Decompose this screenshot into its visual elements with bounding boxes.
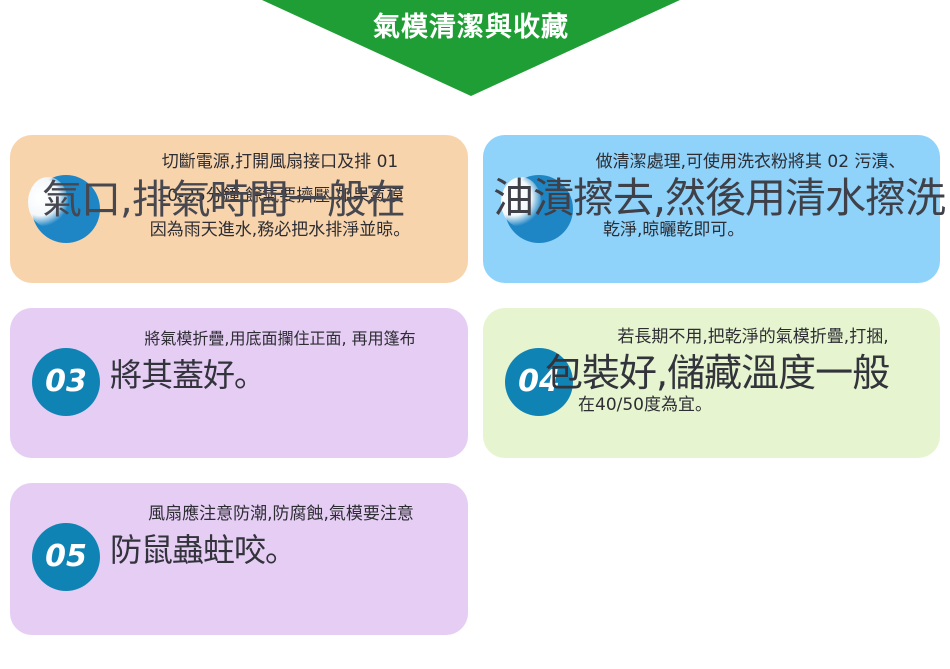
step-badge-05: 05 xyxy=(32,523,100,591)
step-body-line: 在40/50度為宜。 xyxy=(578,388,928,422)
step-body-line: 若長期不用,把乾淨的氣模折疊,打捆, xyxy=(578,320,928,354)
step-body-05: 風扇應注意防潮,防腐蝕,氣模要注意 xyxy=(105,497,457,531)
step-number-01: 01 xyxy=(32,175,100,243)
header-banner: 氣模清潔與收藏 xyxy=(0,0,950,100)
step-body-line: 因為雨天進水,務必把水排淨並晾。 xyxy=(100,213,460,247)
page-title: 氣模清潔與收藏 xyxy=(262,10,680,46)
step-overflow-headline-05: 防鼠蟲蛀咬。 xyxy=(110,529,540,571)
step-number-03: 03 xyxy=(32,348,100,416)
step-body-line: 10-25分鐘,餘氣要擠壓,如果氣模 xyxy=(100,179,460,213)
step-number-02: 02 xyxy=(505,175,573,243)
step-card-03: 03 將氣模折疊,用底面攔住正面, 再用篷布 將其蓋好。 xyxy=(10,308,468,458)
step-badge-03: 03 xyxy=(32,348,100,416)
step-body-02: 做清潔處理,可使用洗衣粉將其 02 污漬、 乾淨,晾曬乾即可。 xyxy=(573,145,928,247)
step-card-05: 05 風扇應注意防潮,防腐蝕,氣模要注意 防鼠蟲蛀咬。 xyxy=(10,483,468,635)
step-badge-01: 01 xyxy=(32,175,100,243)
step-card-04: 04 若長期不用,把乾淨的氣模折疊,打捆, 在40/50度為宜。 包裝好,儲藏溫… xyxy=(483,308,940,458)
step-number-04: 04 xyxy=(505,348,573,416)
step-body-line: 乾淨,晾曬乾即可。 xyxy=(573,213,928,247)
step-body-line: 將氣模折疊,用底面攔住正面, 再用篷布 xyxy=(105,322,455,356)
step-number-05: 05 xyxy=(32,523,100,591)
step-body-04: 若長期不用,把乾淨的氣模折疊,打捆, 在40/50度為宜。 xyxy=(578,320,928,422)
step-badge-02: 02 xyxy=(505,175,573,243)
step-badge-04: 04 xyxy=(505,348,573,416)
step-body-line: 風扇應注意防潮,防腐蝕,氣模要注意 xyxy=(105,497,457,531)
step-body-03: 將氣模折疊,用底面攔住正面, 再用篷布 xyxy=(105,322,455,356)
step-overflow-headline-03: 將其蓋好。 xyxy=(110,354,540,396)
infographic-poster: 氣模清潔與收藏 01 切斷電源,打開風扇接口及排 01 10-25分鐘,餘氣要擠… xyxy=(0,0,950,669)
step-card-01: 01 切斷電源,打開風扇接口及排 01 10-25分鐘,餘氣要擠壓,如果氣模 因… xyxy=(10,135,468,283)
step-body-01: 切斷電源,打開風扇接口及排 01 10-25分鐘,餘氣要擠壓,如果氣模 因為雨天… xyxy=(100,145,460,247)
step-body-line: 切斷電源,打開風扇接口及排 01 xyxy=(100,145,460,179)
step-card-02: 02 做清潔處理,可使用洗衣粉將其 02 污漬、 乾淨,晾曬乾即可。 油漬擦去,… xyxy=(483,135,940,283)
step-body-line: 做清潔處理,可使用洗衣粉將其 02 污漬、 xyxy=(573,145,928,179)
